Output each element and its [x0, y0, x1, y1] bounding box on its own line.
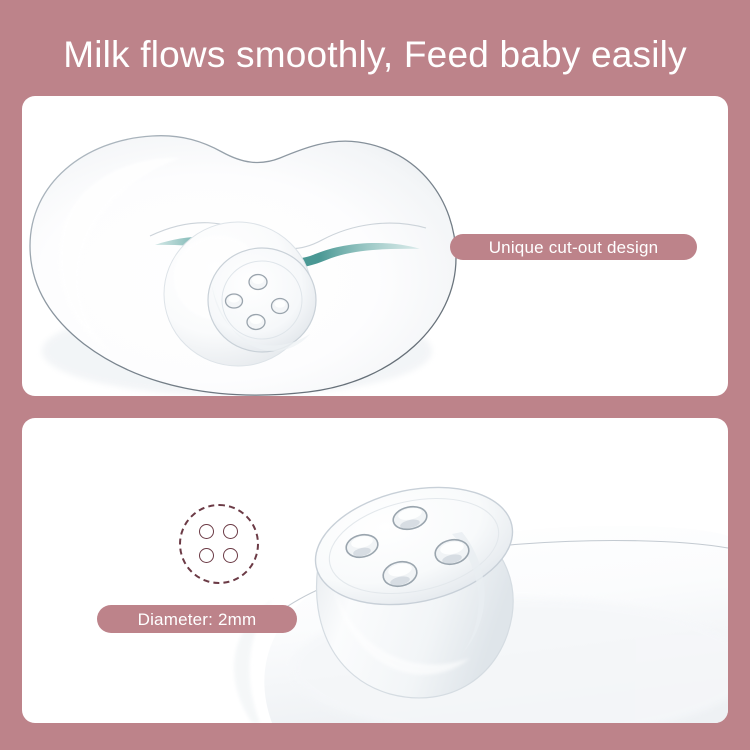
hole-pattern-diagram: [179, 504, 263, 588]
badge-cutout-label: Unique cut-out design: [489, 239, 659, 256]
badge-diameter-label: Diameter: 2mm: [138, 611, 257, 628]
feature-card-bottom: Diameter: 2mm: [22, 418, 728, 723]
hole-dot-grid: [199, 524, 241, 566]
hole-dot: [223, 524, 238, 539]
page-title: Milk flows smoothly, Feed baby easily: [0, 34, 750, 76]
hole-dot: [199, 548, 214, 563]
badge-unique-cut-out-design: Unique cut-out design: [450, 234, 697, 260]
product-feature-page: Milk flows smoothly, Feed baby easily: [0, 0, 750, 750]
nipple-shield-closeup-image: [22, 418, 728, 723]
feature-card-top: Unique cut-out design: [22, 96, 728, 396]
hole-dot: [223, 548, 238, 563]
hole-dot: [199, 524, 214, 539]
badge-diameter: Diameter: 2mm: [97, 605, 297, 633]
